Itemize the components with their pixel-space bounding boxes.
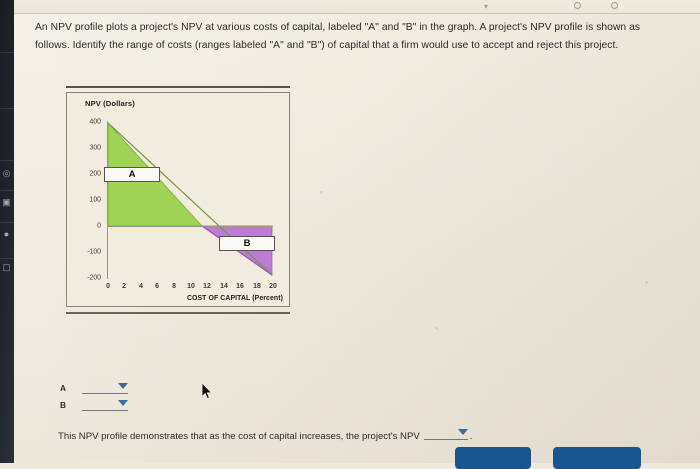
chevron-down-icon[interactable] [458,429,468,435]
y-tick-label: 300 [75,145,101,152]
chart-container: NPV (Dollars) 400 300 200 100 0 -100 -20… [66,92,290,307]
region-label-b: B [219,236,275,251]
answer-row-a: A [60,381,128,394]
x-tick-label: 20 [266,283,280,290]
x-tick-label: 2 [117,283,131,290]
toolbar-circle-icon[interactable] [574,2,581,9]
x-tick-label: 4 [134,283,148,290]
left-app-rail: ◎ ▣ ● ▢ [0,0,14,463]
closing-select[interactable] [424,429,468,440]
grade-it-now-button[interactable] [553,447,641,469]
x-tick-label: 0 [101,283,115,290]
scan-artifact [645,281,648,284]
y-tick-label: -200 [75,275,101,282]
rail-divider [0,160,14,161]
y-axis-title: NPV (Dollars) [85,99,135,108]
figure-rule-top [66,86,290,88]
question-prompt: An NPV profile plots a project's NPV at … [35,19,665,55]
scan-artifact [435,327,438,330]
chevron-down-icon[interactable] [118,383,128,389]
answer-label-b: B [60,400,74,410]
closing-statement: This NPV profile demonstrates that as th… [58,428,472,442]
chat-icon[interactable]: ▢ [1,262,12,273]
x-tick-label: 8 [167,283,181,290]
answer-label-a: A [60,383,74,393]
rail-divider [0,190,14,191]
mouse-cursor-icon [201,383,213,400]
rail-divider [0,222,14,223]
y-axis-line [107,121,108,279]
closing-text-before: This NPV profile demonstrates that as th… [58,431,420,442]
x-tick-label: 16 [233,283,247,290]
grid-icon[interactable]: ▣ [1,197,12,208]
x-axis-zero-line [107,226,273,227]
x-tick-label: 6 [150,283,164,290]
y-tick-label: 100 [75,197,101,204]
toolbar-caret-icon[interactable]: ▾ [484,2,488,11]
npv-profile-figure: NPV (Dollars) 400 300 200 100 0 -100 -20… [66,86,296,314]
answer-select-a[interactable] [82,381,128,394]
toolbar-circle-icon[interactable] [611,2,618,9]
pin-icon[interactable]: ◎ [1,168,12,179]
chart-plot-area: NPV (Dollars) 400 300 200 100 0 -100 -20… [67,93,289,306]
chevron-down-icon[interactable] [118,400,128,406]
circle-icon[interactable]: ● [1,229,12,240]
rail-divider [0,108,14,109]
x-tick-label: 10 [184,283,198,290]
figure-rule-bottom [66,312,290,314]
y-tick-label: 400 [75,119,101,126]
answer-select-b[interactable] [82,398,128,411]
scan-artifact [320,191,323,194]
region-label-a: A [104,167,160,182]
y-tick-label: -100 [75,249,101,256]
x-tick-label: 18 [250,283,264,290]
closing-text-after: . [470,431,473,442]
x-axis-title: COST OF CAPITAL (Percent) [67,295,283,302]
y-tick-label: 0 [75,223,101,230]
top-toolbar-strip: ▾ [14,0,700,14]
x-tick-label: 12 [200,283,214,290]
rail-divider [0,52,14,53]
x-tick-label: 14 [217,283,231,290]
rail-divider [0,258,14,259]
answer-row-b: B [60,398,128,411]
y-tick-label: 200 [75,171,101,178]
check-my-work-button[interactable] [455,447,531,469]
